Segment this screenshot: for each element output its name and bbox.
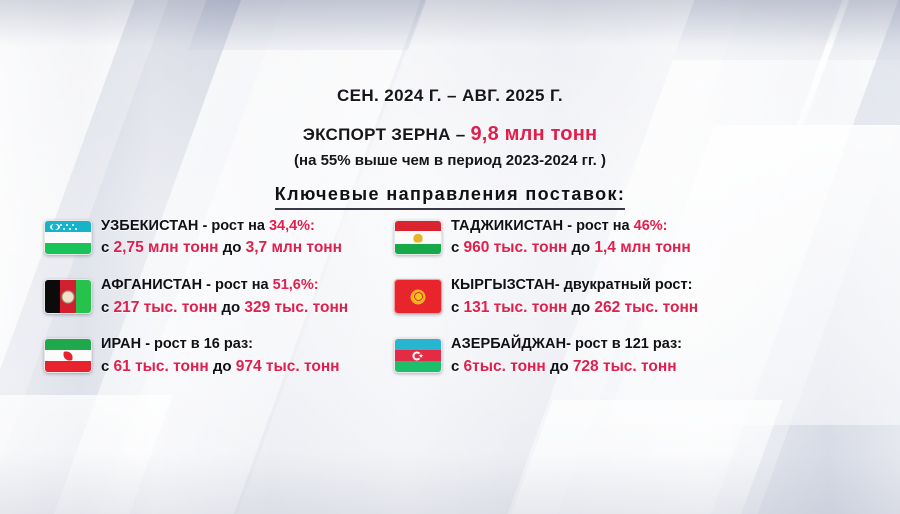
country-entry-tajikistan: ТАДЖИКИСТАН - рост на 46%: с 960 тыс. то… xyxy=(394,216,744,259)
to-value: 329 тыс. тонн xyxy=(244,299,348,316)
to-label: до xyxy=(567,299,594,316)
to-label: до xyxy=(546,358,573,375)
to-label: до xyxy=(219,239,246,256)
country-name: ТАДЖИКИСТАН xyxy=(451,218,563,234)
headline-block: СЕН. 2024 Г. – АВГ. 2025 Г. ЭКСПОРТ ЗЕРН… xyxy=(0,86,900,210)
from-label: с xyxy=(101,239,114,256)
export-label: ЭКСПОРТ ЗЕРНА – xyxy=(303,125,466,144)
export-line: ЭКСПОРТ ЗЕРНА – 9,8 млн тонн xyxy=(0,123,900,146)
key-directions-heading: Ключевые направления поставок: xyxy=(275,184,626,210)
growth-prefix: - рост в 16 раз: xyxy=(141,336,253,352)
country-list: УЗБЕКИСТАН - рост на 34,4%: с 2,75 млн т… xyxy=(44,216,856,378)
from-label: с xyxy=(101,358,114,375)
country-text: ТАДЖИКИСТАН - рост на 46%: с 960 тыс. то… xyxy=(451,216,691,259)
country-text: АЗЕРБАЙДЖАН- рост в 121 раз: с 6тыс. тон… xyxy=(451,334,682,377)
growth-prefix: - рост на xyxy=(563,218,633,234)
growth-prefix: - рост в 121 раз: xyxy=(566,336,682,352)
kyrgyzstan-flag-icon xyxy=(394,279,442,314)
growth-prefix: - рост на xyxy=(202,277,272,293)
iran-flag-icon xyxy=(44,338,92,373)
to-value: 1,4 млн тонн xyxy=(594,239,690,256)
country-entry-azerbaijan: АЗЕРБАЙДЖАН- рост в 121 раз: с 6тыс. тон… xyxy=(394,334,744,377)
from-label: с xyxy=(451,299,464,316)
country-text: КЫРГЫЗСТАН- двукратный рост: с 131 тыс. … xyxy=(451,275,698,318)
growth-value: 46%: xyxy=(634,218,668,234)
from-label: с xyxy=(101,299,114,316)
from-value: 131 тыс. тонн xyxy=(464,299,568,316)
uzbekistan-flag-icon xyxy=(44,220,92,255)
country-text: УЗБЕКИСТАН - рост на 34,4%: с 2,75 млн т… xyxy=(101,216,342,259)
from-value: 61 тыс. тонн xyxy=(114,358,209,375)
growth-prefix: - двукратный рост: xyxy=(555,277,693,293)
growth-prefix: - рост на xyxy=(198,218,268,234)
from-label: с xyxy=(451,358,464,375)
country-entry-kyrgyzstan: КЫРГЫЗСТАН- двукратный рост: с 131 тыс. … xyxy=(394,275,744,318)
country-entry-afghanistan: АФГАНИСТАН - рост на 51,6%: с 217 тыс. т… xyxy=(44,275,394,318)
country-name: ИРАН xyxy=(101,336,141,352)
azerbaijan-flag-icon xyxy=(394,338,442,373)
from-label: с xyxy=(451,239,464,256)
country-entry-iran: ИРАН - рост в 16 раз: с 61 тыс. тонн до … xyxy=(44,334,394,377)
to-label: до xyxy=(209,358,236,375)
infographic-slide: СЕН. 2024 Г. – АВГ. 2025 Г. ЭКСПОРТ ЗЕРН… xyxy=(0,0,900,514)
growth-value: 34,4%: xyxy=(269,218,315,234)
to-label: до xyxy=(567,239,594,256)
country-text: АФГАНИСТАН - рост на 51,6%: с 217 тыс. т… xyxy=(101,275,348,318)
country-entry-uzbekistan: УЗБЕКИСТАН - рост на 34,4%: с 2,75 млн т… xyxy=(44,216,394,259)
from-value: 217 тыс. тонн xyxy=(114,299,218,316)
from-value: 6тыс. тонн xyxy=(464,358,546,375)
from-value: 2,75 млн тонн xyxy=(114,239,219,256)
slide-content: СЕН. 2024 Г. – АВГ. 2025 Г. ЭКСПОРТ ЗЕРН… xyxy=(0,0,900,514)
tajikistan-flag-icon xyxy=(394,220,442,255)
to-value: 262 тыс. тонн xyxy=(594,299,698,316)
country-name: АФГАНИСТАН xyxy=(101,277,202,293)
comparison-note: (на 55% выше чем в период 2023-2024 гг. … xyxy=(0,152,900,169)
to-value: 728 тыс. тонн xyxy=(573,358,677,375)
country-name: УЗБЕКИСТАН xyxy=(101,218,198,234)
growth-value: 51,6%: xyxy=(273,277,319,293)
export-value: 9,8 млн тонн xyxy=(470,123,597,145)
afghanistan-flag-icon xyxy=(44,279,92,314)
to-label: до xyxy=(217,299,244,316)
country-name: АЗЕРБАЙДЖАН xyxy=(451,336,566,352)
from-value: 960 тыс. тонн xyxy=(464,239,568,256)
to-value: 974 тыс. тонн xyxy=(236,358,340,375)
country-name: КЫРГЫЗСТАН xyxy=(451,277,555,293)
country-text: ИРАН - рост в 16 раз: с 61 тыс. тонн до … xyxy=(101,334,340,377)
to-value: 3,7 млн тонн xyxy=(246,239,342,256)
period-label: СЕН. 2024 Г. – АВГ. 2025 Г. xyxy=(0,86,900,106)
